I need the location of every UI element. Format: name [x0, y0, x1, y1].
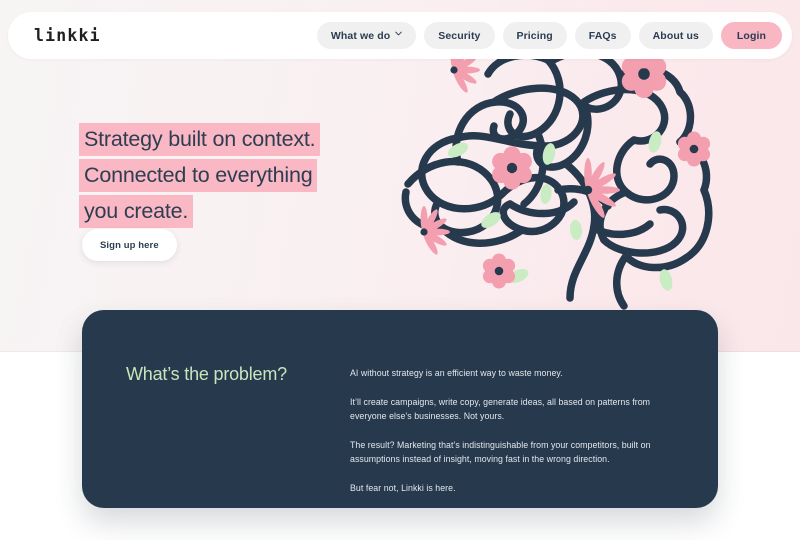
headline-line: Connected to everything: [82, 160, 412, 190]
site-header: linkki What we do Security Pricing FAQs: [8, 12, 792, 59]
hero-copy: Strategy built on context. Connected to …: [82, 124, 412, 226]
sign-up-button[interactable]: Sign up here: [82, 229, 177, 261]
nav-item-label: Pricing: [517, 30, 553, 42]
brand-logo[interactable]: linkki: [34, 26, 101, 45]
problem-paragraph: The result? Marketing that’s indistingui…: [350, 438, 682, 466]
nav-item-label: About us: [653, 30, 699, 42]
nav-item-label: Security: [438, 30, 480, 42]
nav-item-security[interactable]: Security: [424, 22, 494, 49]
nav-item-what-we-do[interactable]: What we do: [317, 22, 416, 49]
hero-headline: Strategy built on context. Connected to …: [82, 124, 412, 226]
brain-illustration: [398, 42, 738, 322]
problem-panel-body: AI without strategy is an efficient way …: [350, 344, 682, 480]
problem-panel-heading: What’s the problem?: [126, 344, 350, 480]
main-navigation: What we do Security Pricing FAQs About u…: [317, 22, 782, 49]
nav-item-about-us[interactable]: About us: [639, 22, 713, 49]
login-button[interactable]: Login: [721, 22, 782, 49]
problem-paragraph: It’ll create campaigns, write copy, gene…: [350, 395, 682, 423]
problem-panel: What’s the problem? AI without strategy …: [82, 310, 718, 508]
nav-item-label: What we do: [331, 30, 390, 42]
headline-line: you create.: [82, 196, 412, 226]
nav-item-faqs[interactable]: FAQs: [575, 22, 631, 49]
problem-paragraph: But fear not, Linkki is here.: [350, 481, 682, 495]
nav-item-label: FAQs: [589, 30, 617, 42]
problem-paragraph: AI without strategy is an efficient way …: [350, 366, 682, 380]
login-button-label: Login: [737, 30, 766, 42]
chevron-down-icon: [395, 31, 402, 38]
nav-item-pricing[interactable]: Pricing: [503, 22, 567, 49]
landing-page: linkki What we do Security Pricing FAQs: [0, 0, 800, 540]
headline-line: Strategy built on context.: [82, 124, 412, 154]
